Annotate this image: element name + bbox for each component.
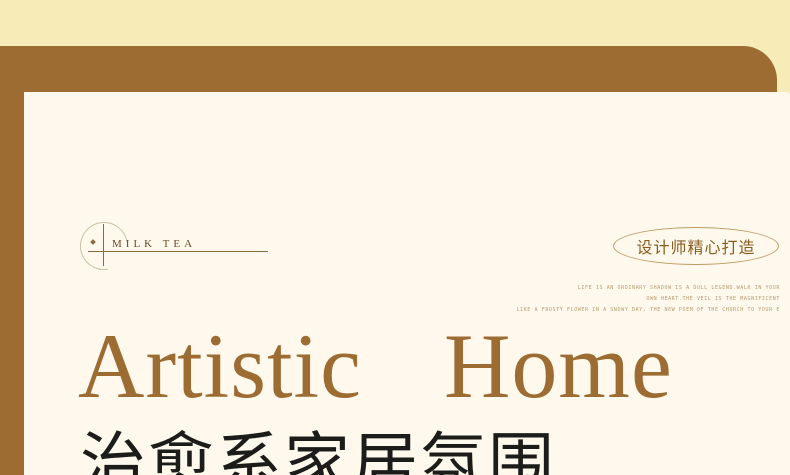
fineprint-line-2: OWN HEART.THE VEIL IS THE MAGNIFICENT xyxy=(454,294,780,305)
logo-vertical-rule xyxy=(103,224,104,266)
fineprint-paragraph: LIFE IS AN ORDINARY SHADOW IS A DULL LEG… xyxy=(454,283,780,316)
designer-badge[interactable]: 设计师精心打造 xyxy=(613,227,779,265)
headline-chinese: 治愈系家居氛围 xyxy=(80,426,556,475)
headline-english: Artistic Home xyxy=(78,318,673,414)
fineprint-line-1: LIFE IS AN ORDINARY SHADOW IS A DULL LEG… xyxy=(454,283,780,294)
headline-word-artistic: Artistic xyxy=(78,315,362,417)
logo-wordmark: MILK TEA xyxy=(112,238,196,250)
content-panel: MILK TEA 设计师精心打造 LIFE IS AN ORDINARY SHA… xyxy=(24,92,790,475)
poster-canvas: MILK TEA 设计师精心打造 LIFE IS AN ORDINARY SHA… xyxy=(0,0,790,475)
headline-word-home: Home xyxy=(444,315,673,417)
designer-badge-label: 设计师精心打造 xyxy=(636,234,755,258)
logo-horizontal-rule xyxy=(88,251,268,252)
brand-logo[interactable]: MILK TEA xyxy=(80,222,270,278)
